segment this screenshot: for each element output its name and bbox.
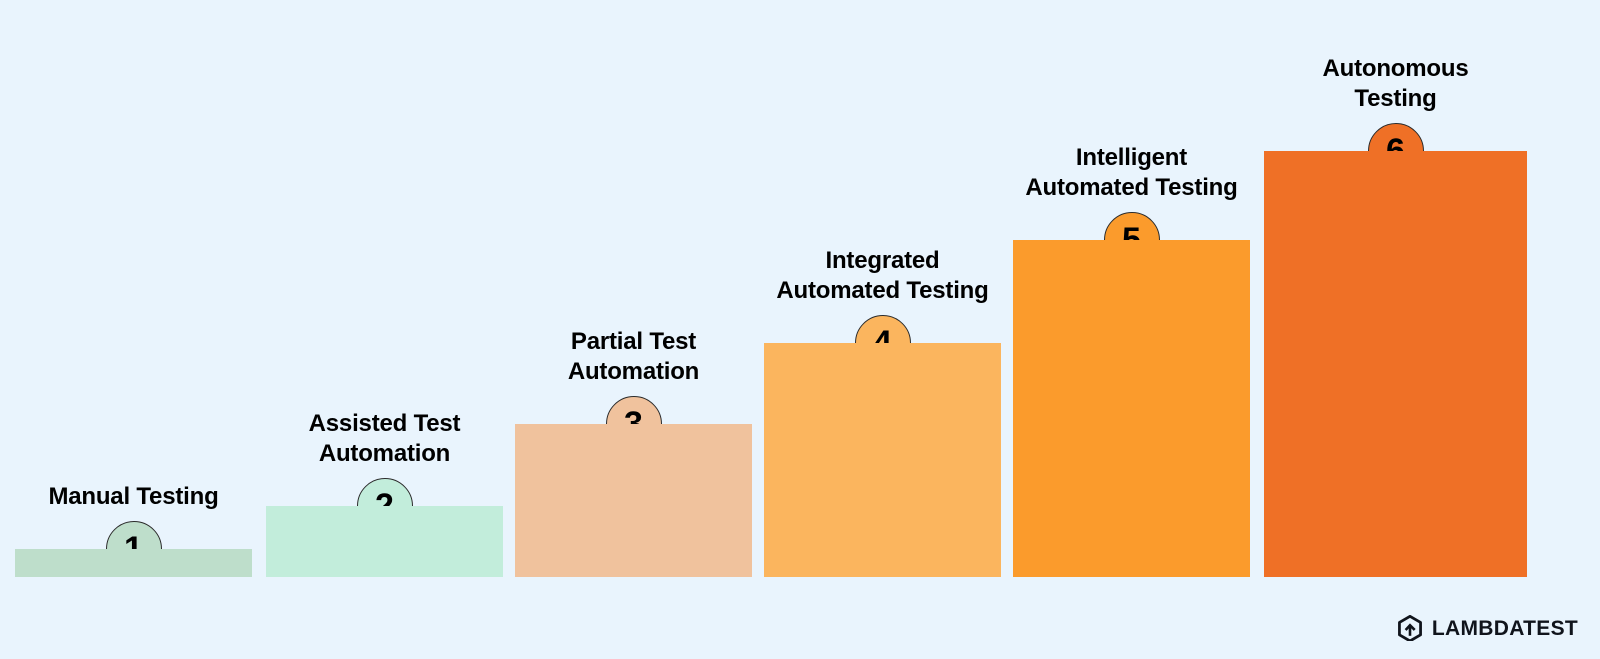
stage-bar-3: [515, 424, 752, 577]
stage-label-1: Manual Testing: [0, 482, 284, 513]
lambdatest-wordmark: LAMBDATEST: [1432, 618, 1578, 639]
stage-bar-1: [15, 549, 252, 577]
lambdatest-logo: LAMBDATEST: [1397, 615, 1578, 641]
stage-label-4: Integrated Automated Testing: [733, 246, 1033, 307]
stage-column-3: Partial Test Automation 3: [515, 424, 752, 577]
stage-bar-4: [764, 343, 1001, 577]
stage-bar-6: [1264, 151, 1527, 577]
stage-column-4: Integrated Automated Testing 4: [764, 343, 1001, 577]
maturity-stage-chart: Manual Testing 1 Assisted Test Automatio…: [0, 0, 1600, 659]
stage-column-6: Autonomous Testing 6: [1264, 151, 1527, 577]
stage-label-5: Intelligent Automated Testing: [982, 143, 1282, 204]
lambdatest-hexagon-arrow-icon: [1397, 615, 1423, 641]
stage-column-1: Manual Testing 1: [15, 549, 252, 577]
stage-label-6: Autonomous Testing: [1246, 54, 1546, 115]
stage-bar-5: [1013, 240, 1250, 577]
stage-bar-2: [266, 506, 503, 577]
stage-label-2: Assisted Test Automation: [235, 409, 535, 470]
stage-column-2: Assisted Test Automation 2: [266, 506, 503, 577]
stage-column-5: Intelligent Automated Testing 5: [1013, 240, 1250, 577]
stage-label-3: Partial Test Automation: [484, 327, 784, 388]
